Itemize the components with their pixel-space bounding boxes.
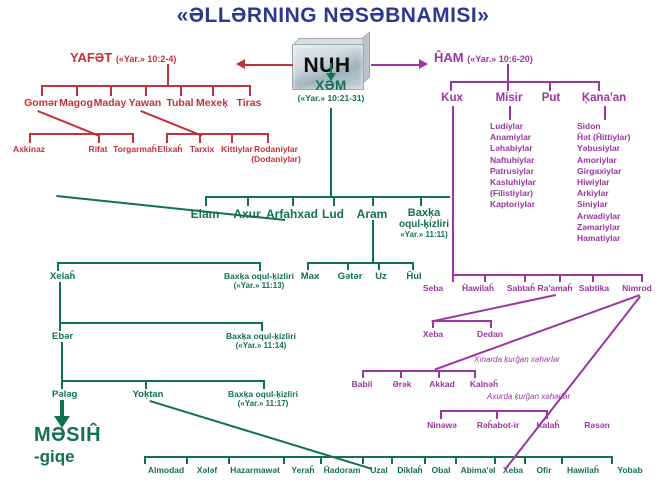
yoktan-drop-2 — [228, 456, 230, 464]
yoktan-child-xelef: Xələf — [197, 465, 217, 475]
raamah-diagonal-connector — [431, 295, 556, 323]
yawan-drop-3 — [267, 133, 269, 143]
ham-child-kux: Kux — [441, 92, 463, 104]
yoktan-drop-10 — [524, 456, 526, 464]
raamah-children-bus — [432, 320, 491, 322]
yoktan-drop-7 — [424, 456, 426, 464]
ham-header: ĤAM («Yar.» 10:6-20) — [434, 50, 533, 65]
xem-other-children-ref: «Yar.» 11:11) — [399, 230, 449, 239]
xelah-row-bus — [57, 262, 260, 264]
eber-other-children: Baxķa oqul-ķizliri («Yar.» 11:17) — [228, 389, 298, 408]
yafet-drop-2 — [110, 85, 112, 96]
shinar-city-erek: Ərək — [393, 379, 412, 389]
yafet-child-tubal: Tubal — [166, 97, 193, 109]
xem-drop-5 — [420, 196, 422, 206]
yoktan-child-diklah: Diklaĥ — [397, 465, 423, 475]
misir-descendant-6: (Filistiylar) — [490, 188, 536, 199]
yafet-header-label: YAFƏT — [70, 50, 112, 65]
eber-other-children-label: Baxķa oqul-ķizliri — [228, 389, 298, 399]
yawan-child-tarxix: Tarxix — [190, 144, 214, 154]
yawan-drop-0 — [166, 133, 168, 143]
messiah-block: MƏSIĤ -giqe — [34, 424, 101, 467]
arfahxad-other-children: Baxķa oqul-ķizliri («Yar.» 11:13) — [224, 271, 294, 290]
kux-drop-4 — [592, 274, 594, 282]
misir-descendants-list: Ludiylar Anamiylar Ləhabiylar Naftuhiyla… — [490, 121, 536, 211]
xem-stem — [330, 108, 332, 196]
xem-child-aram: Aram — [357, 207, 388, 221]
kanaan-descendant-2: Yəbusiylar — [577, 143, 630, 154]
aram-drop-0 — [307, 262, 309, 270]
yoktan-drop-6 — [391, 456, 393, 464]
xelah-drop-1 — [259, 262, 261, 271]
ham-drop-1 — [507, 81, 509, 91]
misir-descendant-0: Ludiylar — [490, 121, 536, 132]
eber-row-bus — [59, 322, 262, 324]
eber-drop-0 — [59, 322, 61, 331]
raamah-child-xeba: Xeba — [423, 329, 443, 339]
aram-drop-3 — [412, 262, 414, 270]
yoktan-child-almodad: Almodad — [148, 465, 184, 475]
yafet-stem — [167, 64, 169, 85]
ashur-drop-0 — [440, 410, 442, 419]
kux-child-raamah: Ra'amaĥ — [537, 283, 572, 293]
kux-drop-0 — [452, 274, 454, 282]
shinar-city-babil: Babil — [352, 379, 373, 389]
arfahxad-other-children-ref: («Yar.» 11:13) — [224, 281, 294, 290]
ashur-city-resen: Rəsən — [584, 420, 610, 430]
nuh-to-yafet-line — [245, 64, 293, 66]
aram-child-geter: Gətər — [338, 271, 363, 282]
xem-drop-0 — [205, 196, 207, 206]
ashur-city-kalah: Kalaĥ — [536, 420, 559, 430]
gomer-drop-1 — [98, 133, 100, 143]
yoktan-child-hawilah: Hawilaĥ — [567, 465, 599, 475]
nimrod-ashur-diagonal-connector — [505, 296, 641, 469]
raamah-child-dedan: Dedan — [477, 329, 503, 339]
yoktan-drop-9 — [494, 456, 496, 464]
eber-drop-1 — [261, 322, 263, 331]
yawan-child-elixah: Elixaĥ — [157, 144, 182, 154]
ashur-city-rehabotir: Rəĥabot-ir — [477, 420, 520, 430]
ham-child-kanaan: Ķana'an — [582, 92, 626, 104]
yafet-child-yawan: Yawan — [129, 97, 162, 109]
yafet-drop-0 — [41, 85, 43, 96]
kux-child-sabtika: Sabtika — [579, 283, 609, 293]
kux-child-seba: Seba — [423, 283, 443, 293]
kux-drop-5 — [641, 274, 643, 282]
ham-reference: («Yar.» 10:6-20) — [467, 54, 533, 64]
eber-stem — [61, 342, 63, 380]
misir-stem — [509, 106, 511, 120]
shinar-city-kalneh: Kalnəĥ — [470, 379, 498, 389]
kux-child-hawilah: Ĥawilaĥ — [462, 283, 494, 293]
ham-child-misir: Misir — [496, 92, 523, 104]
aram-child-max: Max — [301, 271, 319, 282]
yoktan-children-bus — [144, 456, 611, 458]
shinar-drop-0 — [362, 370, 364, 378]
yoktan-child-hadoram: Ĥadoram — [324, 465, 361, 475]
shinar-drop-3 — [474, 370, 476, 378]
peleg-drop-0 — [61, 380, 63, 389]
yafet-child-magog: Magog — [59, 97, 93, 109]
arfahxad-child-xelah: Xelaĥ — [50, 271, 75, 282]
kanaan-descendant-8: Arwadiylar — [577, 211, 630, 222]
yawan-child-rodaniylar: Rodaniylar — [254, 144, 298, 154]
yafet-arrowhead-icon — [236, 59, 245, 69]
ham-arrowhead-icon — [419, 59, 428, 69]
yafet-child-gomer: Gomər — [24, 97, 58, 109]
xem-drop-4 — [372, 196, 374, 206]
ham-header-label: ĤAM — [434, 50, 464, 65]
yoktan-drop-3 — [283, 456, 285, 464]
xelah-other-children: Baxķa oqul-ķizliri («Yar.» 11:14) — [226, 331, 296, 350]
aram-child-hul: Ĥul — [406, 271, 421, 282]
kanaan-descendant-6: Arkiylar — [577, 188, 630, 199]
shinar-drop-2 — [438, 370, 440, 378]
xem-drop-3 — [333, 196, 335, 206]
kux-stem — [452, 106, 454, 274]
yafet-drop-6 — [249, 85, 251, 96]
peleg-drop-1 — [145, 380, 147, 389]
xelah-child-eber: Ebər — [52, 331, 73, 342]
eber-child-peleg: Pələg — [52, 389, 77, 400]
xelah-other-children-label: Baxķa oqul-ķizliri — [226, 331, 296, 341]
page-title: «ƏLLƏRNING NƏSƏBNAMISI» — [0, 4, 666, 28]
peleg-row-bus — [61, 380, 264, 382]
aram-drop-1 — [347, 262, 349, 270]
ham-stem — [507, 64, 509, 81]
yoktan-diagonal-connector — [150, 400, 372, 469]
xem-other-children: Baxķa oqul-ķizliri «Yar.» 11:11) — [399, 207, 449, 239]
yafet-child-mexek: Mexeķ — [196, 97, 228, 109]
ham-drop-3 — [598, 81, 600, 91]
xem-child-lud: Lud — [322, 207, 344, 221]
yoktan-child-yobab: Yobab — [617, 465, 642, 475]
xem-header: XƏM («Yar.» 10:21-31) — [296, 78, 366, 103]
yoktan-drop-11 — [561, 456, 563, 464]
gomer-child-rifat: Rifat — [89, 144, 108, 154]
xem-children-bus — [205, 196, 450, 198]
misir-descendant-1: Anamiylar — [490, 132, 536, 143]
misir-descendant-2: Ləhabiylar — [490, 143, 536, 154]
yoktan-drop-1 — [186, 456, 188, 464]
ashur-drop-2 — [546, 410, 548, 419]
yafet-child-tiras: Tiras — [237, 97, 262, 109]
ashur-cities-label: Axurda ķurǧan xəhərlər — [487, 392, 570, 401]
yafet-reference: («Yar.» 10:2-4) — [116, 54, 177, 64]
aram-children-bus — [307, 262, 412, 264]
shinar-drop-1 — [400, 370, 402, 378]
misir-descendant-4: Patrusiylar — [490, 166, 536, 177]
yoktan-drop-0 — [144, 456, 146, 464]
yoktan-child-uzal: Uzal — [370, 465, 387, 475]
yafet-drop-3 — [145, 85, 147, 96]
raamah-drop-0 — [432, 320, 434, 328]
yawan-child-kittiylar: Kittiylar — [221, 144, 253, 154]
yoktan-child-abimael: Abima'əl — [460, 465, 495, 475]
eber-other-children-ref: («Yar.» 11:17) — [228, 399, 298, 408]
xem-drop-2 — [292, 196, 294, 206]
arfahxad-other-children-label: Baxķa oqul-ķizliri — [224, 271, 294, 281]
yoktan-child-obal: Obal — [432, 465, 451, 475]
kanaan-descendant-10: Hamatiylar — [577, 233, 630, 244]
xelah-other-children-ref: («Yar.» 11:14) — [226, 341, 296, 350]
gomer-child-axkinaz: Axkinaz — [13, 144, 45, 154]
peleg-drop-2 — [263, 380, 265, 389]
yoktan-child-yerah: Yeraĥ — [291, 465, 314, 475]
yafet-header: YAFƏT («Yar.» 10:2-4) — [70, 50, 176, 65]
shinar-city-akkad: Akkad — [429, 379, 455, 389]
ham-child-put: Put — [542, 92, 561, 104]
yoktan-drop-4 — [320, 456, 322, 464]
misir-descendant-3: Naftuhiylar — [490, 155, 536, 166]
yoktan-drop-5 — [362, 456, 364, 464]
xem-reference: («Yar.» 10:21-31) — [296, 93, 366, 103]
yoktan-child-hazarmawet: Hazarmawət — [230, 465, 280, 475]
ashur-drop-1 — [496, 410, 498, 419]
eber-child-yoktan: Yoķtan — [133, 389, 164, 400]
kanaan-descendant-1: Ĥət (Ĥittiylar) — [577, 132, 630, 143]
yoktan-drop-8 — [455, 456, 457, 464]
ham-drop-2 — [549, 81, 551, 91]
yawan-drop-1 — [199, 133, 201, 143]
gomer-child-torgarmah: Torgarmaĥ — [113, 144, 157, 154]
kux-child-nimrod: Nimrod — [622, 283, 652, 293]
kux-drop-3 — [559, 274, 561, 282]
xem-drop-1 — [247, 196, 249, 206]
aram-stem — [372, 220, 374, 262]
kux-children-bus — [452, 274, 642, 276]
yawan-drop-2 — [231, 133, 233, 143]
kanaan-descendant-5: Hiwiylar — [577, 177, 630, 188]
aram-drop-2 — [378, 262, 380, 270]
xem-header-label: XƏM — [296, 78, 366, 93]
messiah-sublabel: -giqe — [34, 447, 101, 467]
messiah-label: MƏSIĤ — [34, 424, 101, 447]
ham-drop-0 — [450, 81, 452, 91]
shinar-cities-label: Xınarda ķurǧan xəhərlər — [474, 355, 560, 364]
kanaan-descendant-3: Amoriylar — [577, 155, 630, 166]
gomer-drop-2 — [132, 133, 134, 143]
kanaan-descendant-7: Siniylar — [577, 199, 630, 210]
kux-child-sabtah: Sabtaĥ — [507, 283, 535, 293]
kanaan-stem — [604, 106, 606, 120]
kanaan-descendant-4: Girgaxiylar — [577, 166, 630, 177]
gomer-children-bus — [29, 133, 132, 135]
nuh-to-ham-line — [371, 64, 419, 66]
raamah-drop-1 — [490, 320, 492, 328]
yafet-drop-1 — [76, 85, 78, 96]
yoktan-drop-12 — [611, 456, 613, 464]
kanaan-descendant-0: Sidon — [577, 121, 630, 132]
kux-drop-1 — [484, 274, 486, 282]
misir-descendant-7: Kaptoriylar — [490, 199, 536, 210]
ashur-city-ninewe: Ninəwə — [427, 420, 457, 430]
kanaan-descendant-9: Zəmariylar — [577, 222, 630, 233]
ham-children-bus — [450, 81, 598, 83]
kux-drop-2 — [524, 274, 526, 282]
xelah-stem — [59, 282, 61, 322]
xelah-drop-0 — [57, 262, 59, 271]
gomer-drop-0 — [29, 133, 31, 143]
yafet-drop-5 — [212, 85, 214, 96]
ashur-cities-bus — [440, 410, 546, 412]
yawan-children-bus — [166, 133, 267, 135]
shinar-cities-bus — [362, 370, 475, 372]
yafet-child-maday: Maday — [94, 97, 127, 109]
rodaniylar-alt-name: (Dodaniylar) — [251, 154, 301, 164]
yafet-drop-4 — [180, 85, 182, 96]
misir-descendant-5: Kasluhiylar — [490, 177, 536, 188]
kanaan-descendants-list: Sidon Ĥət (Ĥittiylar) Yəbusiylar Amoriyl… — [577, 121, 630, 244]
yoktan-child-ofir: Ofir — [536, 465, 551, 475]
aram-child-uz: Uz — [375, 271, 387, 282]
